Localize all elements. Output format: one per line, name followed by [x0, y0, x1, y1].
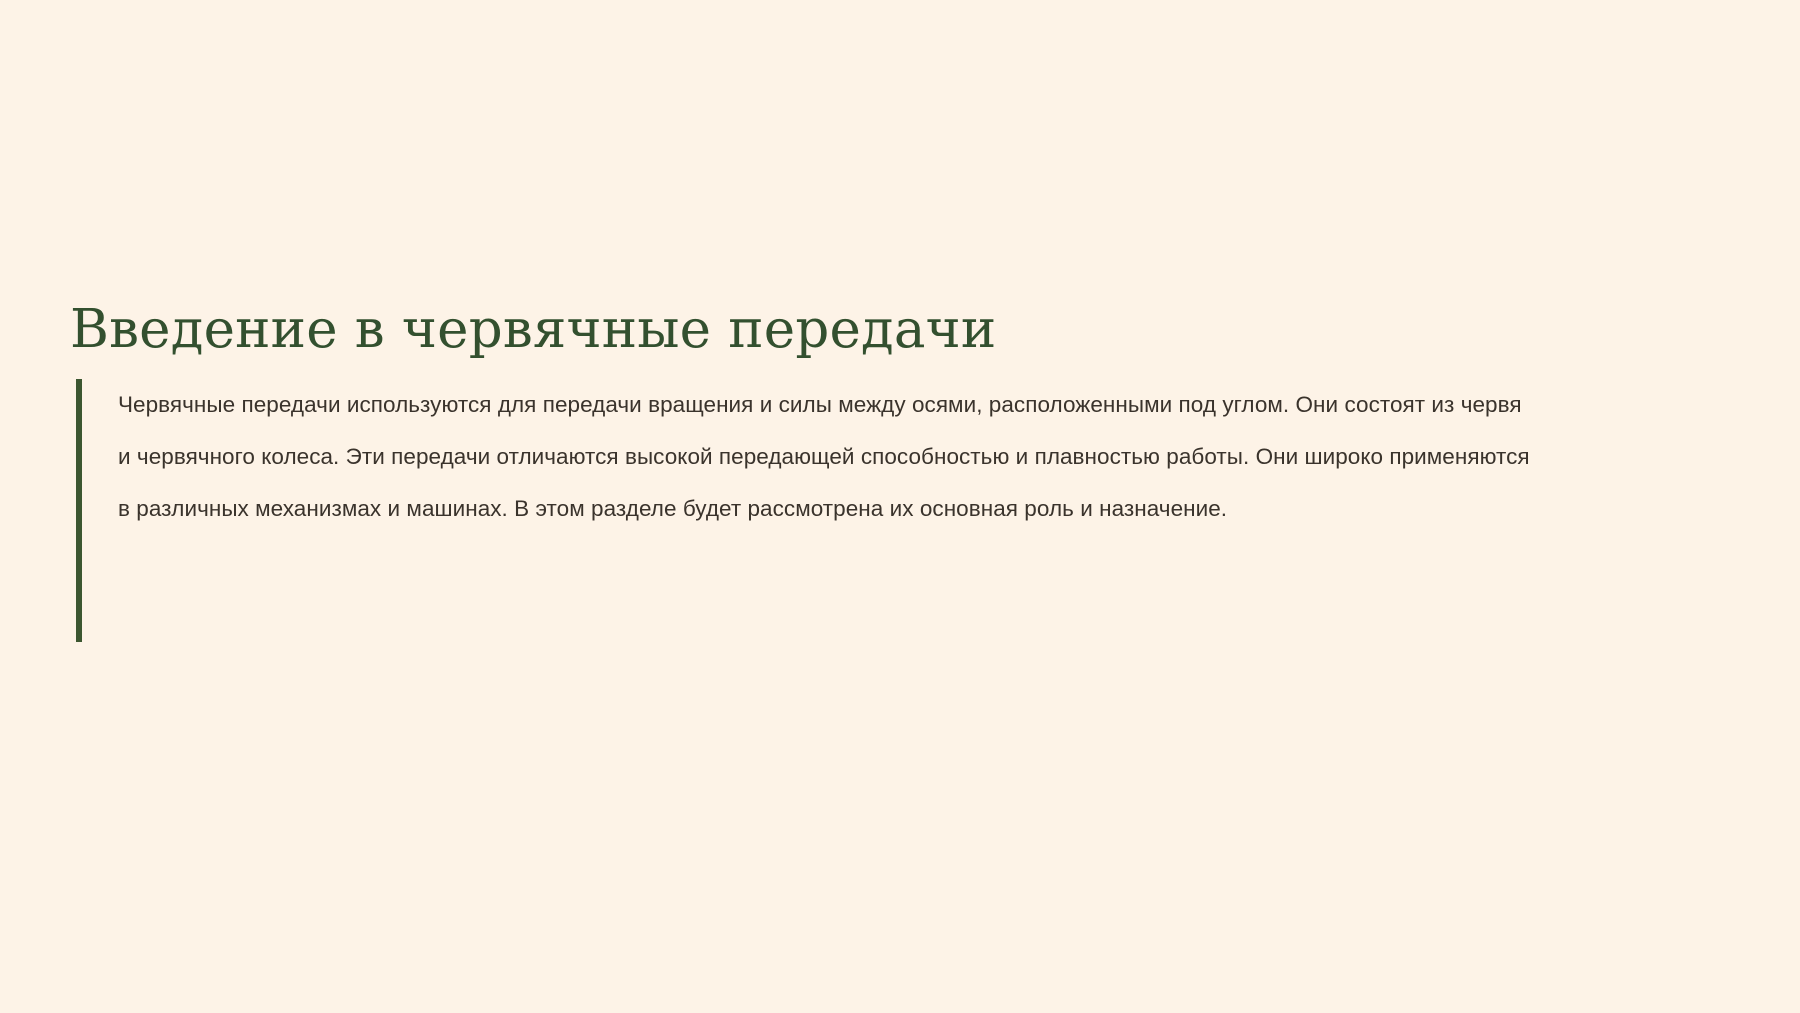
page-title: Введение в червячные передачи: [70, 300, 1730, 361]
intro-callout: Червячные передачи используются для пере…: [70, 379, 1730, 535]
callout-accent-bar: [76, 379, 82, 642]
slide-canvas: Введение в червячные передачи Червячные …: [0, 0, 1800, 1013]
intro-paragraph: Червячные передачи используются для пере…: [118, 379, 1538, 535]
slide-content-block: Введение в червячные передачи Червячные …: [70, 300, 1730, 535]
